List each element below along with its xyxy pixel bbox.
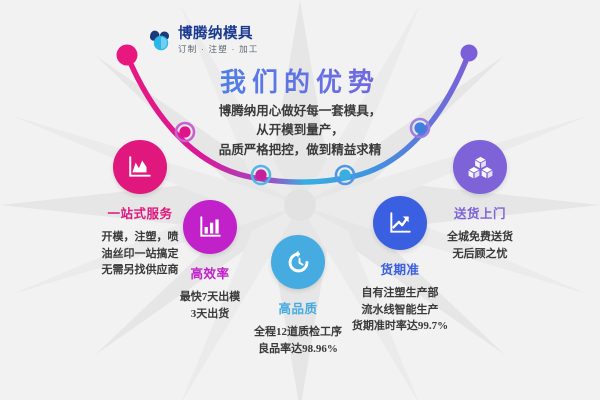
area-chart-icon xyxy=(113,140,167,194)
feature-body: 全城免费送货 无后顾之忧 xyxy=(425,229,535,262)
logo-subtitle: 订制 · 注塑 · 加工 xyxy=(178,45,259,54)
feature-body: 全程12道质检工序 良品率达98.96% xyxy=(243,324,353,357)
bar-chart-icon xyxy=(183,200,237,254)
boxes-icon xyxy=(453,140,507,194)
intro-line-1: 博腾纳用心做好每一套模具， xyxy=(0,102,600,121)
feature-body-line: 良品率达98.96% xyxy=(243,341,353,358)
trend-up-chart-icon xyxy=(373,196,427,250)
feature-body-line: 流水线智能生产 xyxy=(345,302,455,319)
refresh-clock-icon xyxy=(271,235,325,289)
content-layer: 博腾纳模具 订制 · 注塑 · 加工 我们的优势 博腾纳用心做好每一套模具， 从… xyxy=(0,0,600,400)
page-title: 我们的优势 xyxy=(0,62,600,99)
logo-name: 博腾纳模具 xyxy=(178,27,259,42)
feature-title: 高品质 xyxy=(243,298,353,317)
feature-body-line: 货期准时率达99.7% xyxy=(345,318,455,335)
feature-body-line: 自有注塑生产部 xyxy=(345,285,455,302)
feature-title: 送货上门 xyxy=(425,203,535,222)
logo-text: 博腾纳模具 订制 · 注塑 · 加工 xyxy=(178,27,259,53)
intro-line-2: 从开模到量产， xyxy=(0,121,600,140)
feature-door-delivery[interactable]: 送货上门 全城免费送货 无后顾之忧 xyxy=(425,140,535,262)
logo-mark-icon xyxy=(147,28,173,52)
brand-logo: 博腾纳模具 订制 · 注塑 · 加工 xyxy=(147,27,259,53)
poster-canvas: 博腾纳模具 订制 · 注塑 · 加工 我们的优势 博腾纳用心做好每一套模具， 从… xyxy=(0,0,600,400)
feature-body-line: 全程12道质检工序 xyxy=(243,324,353,341)
feature-body-line: 无后顾之忧 xyxy=(425,246,535,263)
feature-body: 自有注塑生产部 流水线智能生产 货期准时率达99.7% xyxy=(345,285,455,335)
feature-body-line: 全城免费送货 xyxy=(425,229,535,246)
feature-high-quality[interactable]: 高品质 全程12道质检工序 良品率达98.96% xyxy=(243,235,353,357)
